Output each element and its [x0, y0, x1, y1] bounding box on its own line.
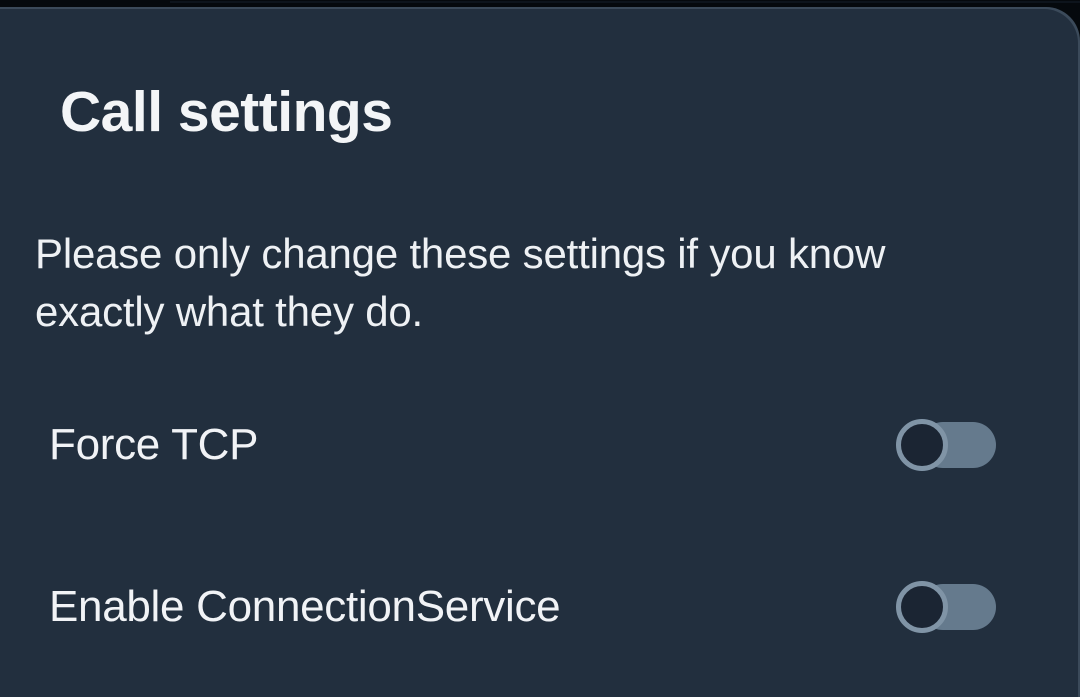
setting-label-force-tcp: Force TCP	[49, 419, 258, 471]
toggle-thumb	[896, 419, 948, 471]
toggle-off-icon-enable-connectionservice[interactable]	[896, 581, 996, 633]
setting-row-force-tcp[interactable]: Force TCP	[0, 397, 1080, 559]
device-frame: Call settings Please only change these s…	[0, 0, 1080, 697]
toggle-off-icon-force-tcp[interactable]	[896, 419, 996, 471]
setting-label-enable-connectionservice: Enable ConnectionService	[49, 581, 560, 633]
toggle-thumb	[896, 581, 948, 633]
page-title: Call settings	[60, 83, 392, 143]
settings-list: Force TCP Enable ConnectionService	[0, 397, 1080, 697]
page-description: Please only change these settings if you…	[35, 225, 1020, 341]
call-settings-screen: Call settings Please only change these s…	[0, 7, 1080, 697]
setting-row-enable-connectionservice[interactable]: Enable ConnectionService	[0, 559, 1080, 697]
